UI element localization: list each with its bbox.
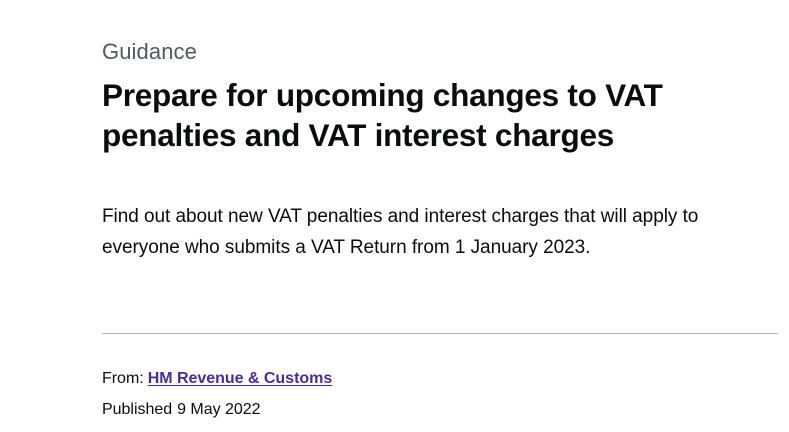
metadata-row: Published9 May 2022 xyxy=(102,392,778,423)
guidance-page: Guidance Prepare for upcoming changes to… xyxy=(0,0,789,432)
document-type-label: Guidance xyxy=(102,0,778,66)
organisation-link[interactable]: HM Revenue & Customs xyxy=(148,370,333,387)
published-date: 9 May 2022 xyxy=(177,401,260,418)
metadata-row: From:HM Revenue & Customs xyxy=(102,366,778,392)
page-title: Prepare for upcoming changes to VAT pena… xyxy=(102,66,727,155)
metadata-divider xyxy=(102,333,778,334)
page-content: Guidance Prepare for upcoming changes to… xyxy=(102,0,778,263)
published-label: Published xyxy=(102,401,172,418)
from-label: From: xyxy=(102,370,144,387)
lead-paragraph: Find out about new VAT penalties and int… xyxy=(102,155,727,263)
metadata-block: From:HM Revenue & Customs Published9 May… xyxy=(102,366,778,423)
